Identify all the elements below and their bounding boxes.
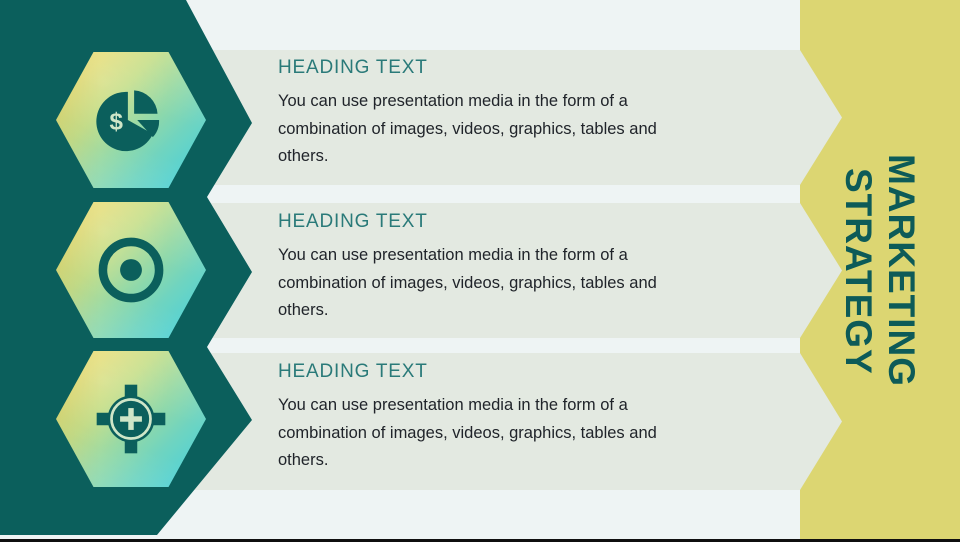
item-body-1: You can use presentation media in the fo…: [278, 88, 708, 171]
item-body-2: You can use presentation media in the fo…: [278, 242, 708, 325]
side-panel-title-line-1: MARKETING: [883, 154, 920, 387]
bullseye-target-icon: [92, 231, 170, 309]
pie-chart-dollar-icon: $: [92, 81, 170, 159]
item-body-3: You can use presentation media in the fo…: [278, 392, 708, 475]
side-panel-title-line-2: STRATEGY: [840, 168, 877, 375]
slide-canvas: STRATEGY MARKETING $: [0, 0, 960, 542]
svg-text:$: $: [109, 108, 123, 135]
item-heading-2: HEADING TEXT: [278, 212, 708, 233]
text-block-1: HEADING TEXT You can use presentation me…: [278, 58, 708, 171]
item-heading-3: HEADING TEXT: [278, 362, 708, 383]
item-heading-1: HEADING TEXT: [278, 58, 708, 79]
crosshair-plus-icon: [92, 380, 170, 458]
text-block-2: HEADING TEXT You can use presentation me…: [278, 212, 708, 325]
text-block-3: HEADING TEXT You can use presentation me…: [278, 362, 708, 475]
